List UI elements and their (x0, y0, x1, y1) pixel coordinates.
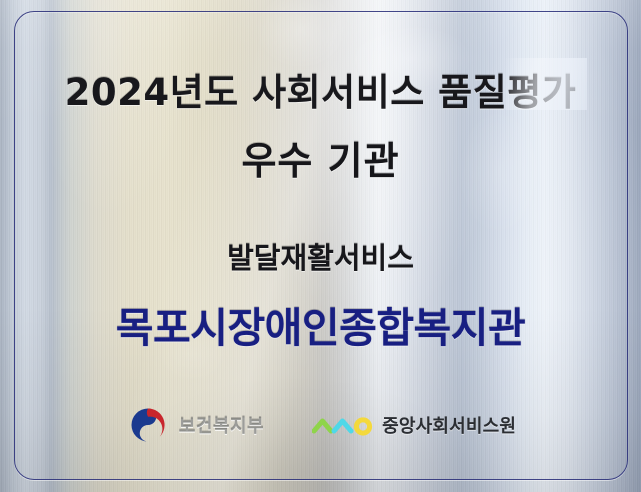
chevron-circle-icon (312, 414, 374, 436)
service-category-label: 발달재활서비스 (0, 235, 641, 277)
award-title-line-1: 2024년도 사회서비스 품질평가 (0, 62, 641, 116)
central-social-service-agency-label: 중앙사회서비스원 (382, 412, 516, 438)
award-title-line-2: 우수 기관 (0, 130, 641, 185)
organization-name: 목포시장애인종합복지관 (0, 294, 641, 354)
plaque-content: 2024년도 사회서비스 품질평가 우수 기관 발달재활서비스 목포시장애인종합… (0, 0, 641, 492)
award-plaque: 2024년도 사회서비스 품질평가 우수 기관 발달재활서비스 목포시장애인종합… (0, 0, 641, 492)
korean-government-taegeuk-icon (125, 406, 171, 444)
logo-row: 보건복지부 중앙사회서비스원 (0, 406, 641, 444)
ministry-of-health-and-welfare-logo: 보건복지부 (125, 406, 264, 444)
central-social-service-agency-logo: 중앙사회서비스원 (312, 412, 516, 438)
ministry-of-health-and-welfare-label: 보건복지부 (179, 412, 264, 438)
